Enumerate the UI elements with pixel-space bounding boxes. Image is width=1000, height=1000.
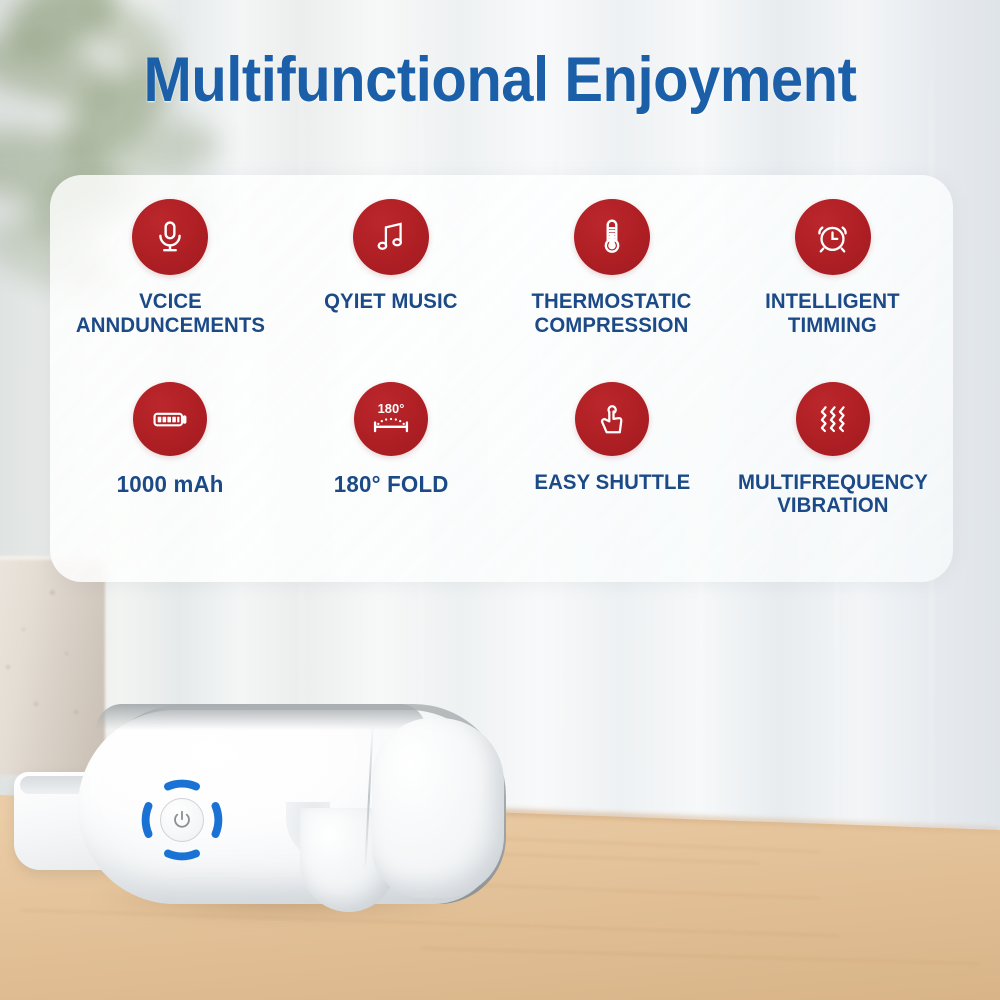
fold-angle-badge: 180° bbox=[378, 400, 405, 415]
microphone-icon bbox=[152, 219, 188, 255]
icon-circle bbox=[575, 382, 649, 456]
feature-label: 180° FOLD bbox=[334, 471, 449, 497]
feature-item-easy-shuttle[interactable]: EASY SHUTTLE bbox=[502, 382, 723, 565]
eye-massager-product bbox=[0, 690, 560, 950]
feature-item-intelligent-timing[interactable]: INTELLIGENT TIMMING bbox=[722, 199, 943, 382]
feature-card: VCICE ANNDUNCEMENTS QYIET MUSIC bbox=[50, 175, 953, 582]
alarm-clock-icon bbox=[814, 219, 851, 256]
feature-label: QYIET MUSIC bbox=[324, 290, 457, 314]
page-title: Multifunctional Enjoyment bbox=[40, 44, 960, 116]
power-icon bbox=[171, 809, 193, 831]
feature-label: INTELLIGENT TIMMING bbox=[765, 290, 900, 338]
feature-item-quiet-music[interactable]: QYIET MUSIC bbox=[281, 199, 502, 382]
icon-circle bbox=[353, 199, 429, 275]
feature-label: EASY SHUTTLE bbox=[534, 471, 690, 495]
feature-label: MULTIFREQUENCY VIBRATION bbox=[738, 471, 928, 519]
music-note-icon bbox=[373, 219, 409, 255]
icon-circle bbox=[574, 199, 650, 275]
feature-item-thermostatic-compression[interactable]: THERMOSTATIC COMPRESSION bbox=[502, 199, 723, 382]
feature-label: THERMOSTATIC COMPRESSION bbox=[532, 290, 692, 338]
icon-circle bbox=[132, 199, 208, 275]
power-button-face[interactable] bbox=[160, 798, 204, 842]
feature-item-voice-announcements[interactable]: VCICE ANNDUNCEMENTS bbox=[60, 199, 281, 382]
icon-circle bbox=[796, 382, 870, 456]
tap-hand-icon bbox=[594, 401, 630, 437]
feature-item-180-fold[interactable]: 180° bbox=[281, 382, 502, 565]
battery-full-icon bbox=[150, 399, 190, 439]
feature-grid: VCICE ANNDUNCEMENTS QYIET MUSIC bbox=[50, 175, 953, 582]
right-eye-cup bbox=[372, 718, 504, 898]
power-button[interactable] bbox=[140, 778, 224, 862]
vibration-icon bbox=[815, 401, 851, 437]
icon-circle bbox=[795, 199, 871, 275]
thermometer-icon bbox=[593, 218, 631, 256]
feature-label: 1000 mAh bbox=[117, 471, 224, 497]
feature-item-multifrequency-vibration[interactable]: MULTIFREQUENCY VIBRATION bbox=[722, 382, 943, 565]
fold-180-icon: 180° bbox=[364, 392, 418, 446]
feature-label: VCICE ANNDUNCEMENTS bbox=[76, 290, 265, 338]
feature-item-battery-capacity[interactable]: 1000 mAh bbox=[60, 382, 281, 565]
icon-circle bbox=[133, 382, 207, 456]
icon-circle: 180° bbox=[354, 382, 428, 456]
top-grey-edge bbox=[96, 704, 426, 730]
